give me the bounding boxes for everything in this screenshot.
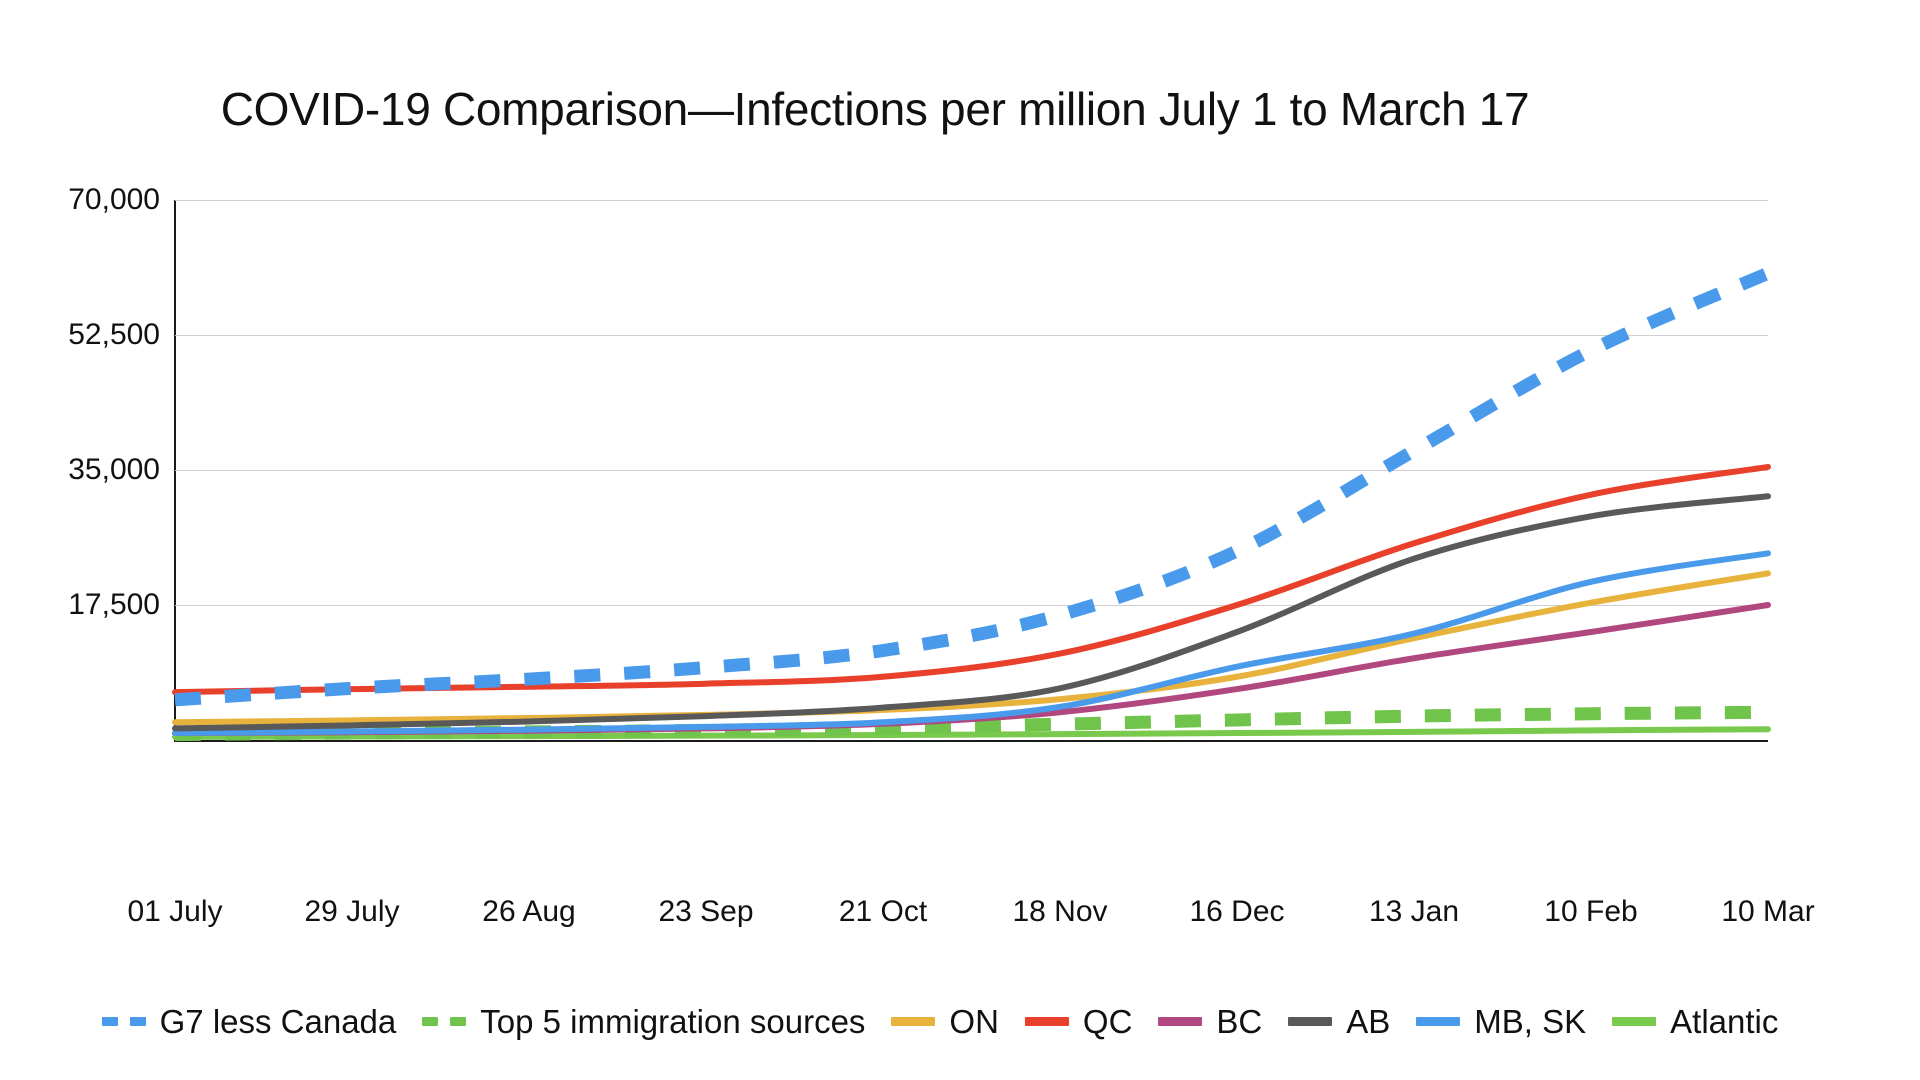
x-axis-tick-label: 10 Feb [1544,895,1637,929]
y-axis-tick-label: 35,000 [0,453,160,487]
chart-title: COVID-19 Comparison—Infections per milli… [0,84,1920,135]
y-axis-tick-label: 52,500 [0,318,160,352]
legend-swatch-icon [422,1017,466,1026]
legend-item[interactable]: QC [1025,1005,1133,1038]
legend-label: Top 5 immigration sources [480,1005,865,1038]
legend-label: QC [1083,1005,1133,1038]
legend-item[interactable]: G7 less Canada [102,1005,397,1038]
legend-label: MB, SK [1474,1005,1586,1038]
legend-item[interactable]: Atlantic [1612,1005,1778,1038]
legend-item[interactable]: BC [1158,1005,1262,1038]
x-axis-tick-label: 16 Dec [1189,895,1284,929]
x-axis-tick-label: 01 July [127,895,222,929]
x-axis-tick-label: 21 Oct [839,895,927,929]
legend-label: ON [949,1005,999,1038]
legend-swatch-icon [891,1017,935,1026]
y-axis-tick-label: 17,500 [0,588,160,622]
x-axis-tick-label: 13 Jan [1369,895,1459,929]
legend-swatch-icon [1612,1017,1656,1026]
x-axis-line [174,740,1768,742]
legend-label: AB [1346,1005,1390,1038]
x-axis-tick-label: 26 Aug [482,895,575,929]
legend-label: G7 less Canada [160,1005,397,1038]
series-line [175,467,1768,692]
series-line [175,273,1768,700]
plot-area [175,200,1768,740]
x-axis-tick-label: 10 Mar [1721,895,1814,929]
x-axis-tick-label: 23 Sep [658,895,753,929]
legend-item[interactable]: AB [1288,1005,1390,1038]
x-axis-tick-label: 29 July [304,895,399,929]
legend-item[interactable]: MB, SK [1416,1005,1586,1038]
y-axis-tick-label: 70,000 [0,183,160,217]
legend-swatch-icon [1025,1017,1069,1026]
legend-label: Atlantic [1670,1005,1778,1038]
chart-legend: G7 less CanadaTop 5 immigration sourcesO… [0,990,1920,1052]
legend-item[interactable]: ON [891,1005,999,1038]
legend-item[interactable]: Top 5 immigration sources [422,1005,865,1038]
x-axis-tick-label: 18 Nov [1012,895,1107,929]
series-lines [175,200,1768,740]
legend-swatch-icon [1416,1017,1460,1026]
legend-swatch-icon [1158,1017,1202,1026]
legend-swatch-icon [102,1017,146,1026]
legend-label: BC [1216,1005,1262,1038]
x-axis-tick-labels: 01 July29 July26 Aug23 Sep21 Oct18 Nov16… [175,895,1768,939]
chart-container: COVID-19 Comparison—Infections per milli… [0,0,1920,1080]
legend-swatch-icon [1288,1017,1332,1026]
